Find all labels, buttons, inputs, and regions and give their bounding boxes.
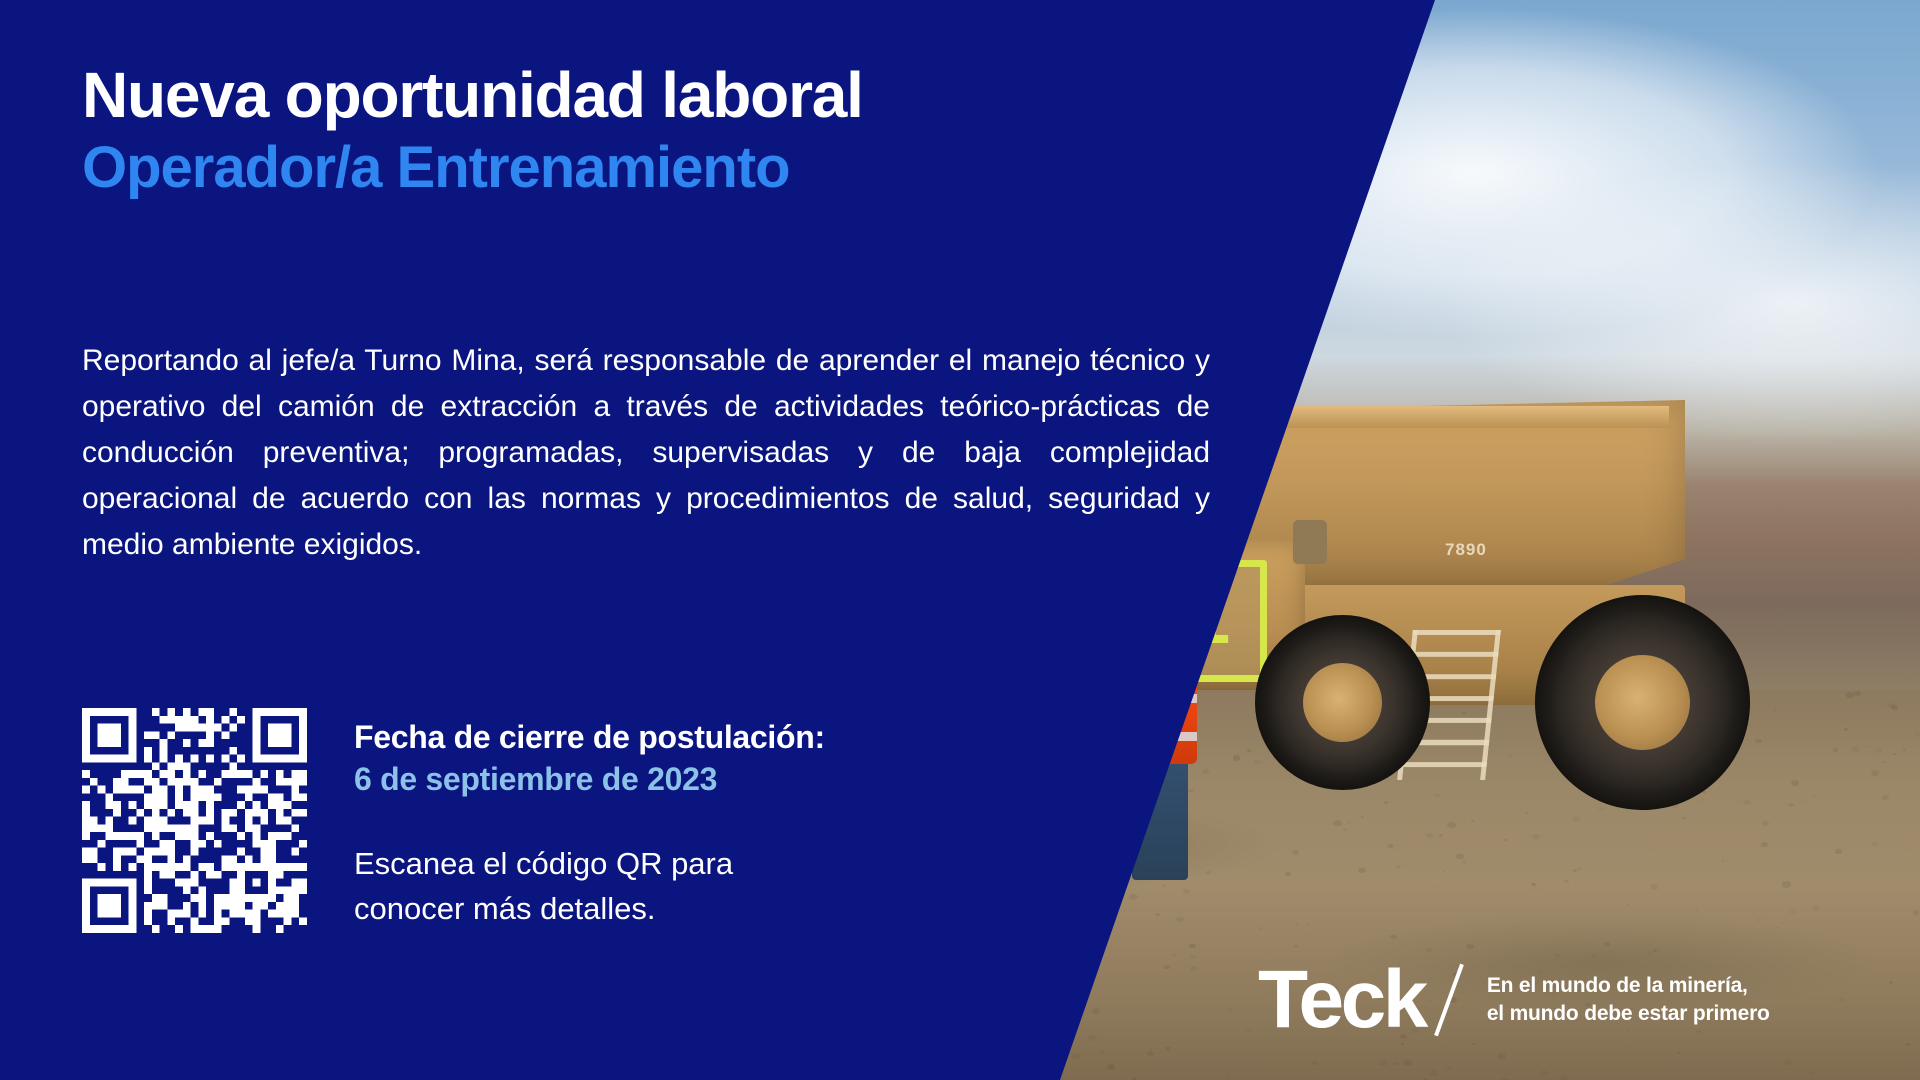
- truck-mirror: [1293, 520, 1327, 564]
- ground-speck: [1462, 860, 1467, 863]
- ground-speck: [1439, 834, 1443, 837]
- page-title: Nueva oportunidad laboral: [82, 62, 863, 129]
- ground-speck: [1650, 884, 1658, 890]
- ground-speck: [1227, 1076, 1230, 1078]
- ground-speck: [1430, 1070, 1438, 1075]
- ground-speck: [1573, 869, 1578, 872]
- brand-tagline-line1: En el mundo de la minería,: [1487, 972, 1770, 1000]
- ground-speck: [1789, 909, 1796, 914]
- ground-speck: [1761, 842, 1767, 846]
- ground-speck: [1875, 748, 1883, 753]
- ground-speck: [1446, 1066, 1452, 1070]
- ground-speck: [1456, 854, 1464, 860]
- ground-speck: [1334, 872, 1336, 874]
- ground-speck: [1626, 1046, 1628, 1048]
- ground-speck: [1390, 935, 1397, 940]
- truck-front-hub: [1303, 663, 1382, 742]
- ground-speck: [1653, 949, 1657, 952]
- ground-speck: [1564, 880, 1569, 884]
- ground-speck: [1604, 942, 1610, 946]
- ground-speck: [1466, 944, 1474, 950]
- ground-speck: [1889, 981, 1893, 983]
- ground-speck: [1835, 849, 1841, 854]
- ground-speck: [1532, 834, 1540, 839]
- ground-speck: [1292, 850, 1299, 855]
- ground-speck: [1903, 748, 1906, 750]
- job-role-subtitle: Operador/a Entrenamiento: [82, 138, 790, 199]
- truck-bed-rim: [1139, 406, 1669, 428]
- ground-speck: [1882, 795, 1889, 800]
- ground-speck: [1343, 828, 1348, 831]
- ground-speck: [1333, 820, 1341, 826]
- ground-speck: [1295, 924, 1298, 926]
- ground-speck: [1578, 867, 1582, 870]
- closing-date-value: 6 de septiembre de 2023: [354, 758, 1054, 800]
- ground-speck: [1395, 1063, 1398, 1065]
- ground-speck: [1425, 948, 1431, 952]
- teck-logo-lockup: Teck En el mundo de la minería, el mundo…: [1258, 955, 1858, 1045]
- ground-speck: [1782, 881, 1791, 887]
- ground-speck: [1404, 1060, 1412, 1066]
- ground-speck: [1503, 839, 1507, 841]
- ground-speck: [1307, 924, 1310, 926]
- ground-speck: [1206, 871, 1211, 874]
- ground-speck: [1396, 865, 1401, 869]
- brand-tagline: En el mundo de la minería, el mundo debe…: [1487, 972, 1770, 1029]
- ground-speck: [1871, 770, 1879, 776]
- ground-speck: [1347, 821, 1352, 824]
- ground-speck: [1228, 1008, 1233, 1011]
- ground-speck: [1497, 1053, 1506, 1059]
- ground-speck: [1285, 872, 1290, 876]
- ground-speck: [1433, 886, 1437, 888]
- ground-speck: [1722, 860, 1724, 862]
- ground-speck: [1358, 868, 1366, 874]
- ground-speck: [1443, 870, 1446, 872]
- truck-rear-wheel: [1535, 595, 1750, 810]
- ground-speck: [1294, 945, 1299, 948]
- closing-date-label: Fecha de cierre de postulación:: [354, 716, 1054, 758]
- qr-code-canvas[interactable]: [82, 708, 307, 933]
- ground-speck: [1312, 1061, 1317, 1065]
- ground-speck: [1893, 753, 1896, 755]
- scan-instructions-line2: conocer más detalles.: [354, 887, 994, 932]
- ground-speck: [1812, 906, 1819, 911]
- closing-date-block: Fecha de cierre de postulación: 6 de sep…: [354, 716, 1054, 800]
- ground-speck: [1758, 919, 1761, 921]
- ground-speck: [1762, 821, 1769, 826]
- ground-speck: [1678, 1052, 1681, 1054]
- ground-speck: [1784, 1060, 1791, 1065]
- job-posting-poster: 11 7890: [0, 0, 1920, 1080]
- scan-instructions-line1: Escanea el código QR para: [354, 842, 994, 887]
- ground-speck: [1531, 883, 1536, 886]
- poster-content: Nueva oportunidad laboral Operador/a Ent…: [82, 0, 1202, 1080]
- ground-speck: [1426, 833, 1433, 838]
- teck-wordmark: Teck: [1258, 959, 1425, 1041]
- scan-instructions: Escanea el código QR para conocer más de…: [354, 842, 994, 932]
- truck-rear-hub: [1595, 655, 1690, 750]
- truck-front-wheel: [1255, 615, 1430, 790]
- ground-speck: [1775, 927, 1777, 929]
- ground-speck: [1627, 904, 1629, 906]
- ground-speck: [1259, 927, 1264, 930]
- ground-speck: [1471, 820, 1474, 822]
- job-description: Reportando al jefe/a Turno Mina, será re…: [82, 338, 1210, 568]
- ground-speck: [1810, 1072, 1812, 1073]
- ground-speck: [1871, 842, 1878, 847]
- brand-tagline-line2: el mundo debe estar primero: [1487, 1000, 1770, 1028]
- truck-unit-tag: 7890: [1445, 540, 1487, 560]
- ground-speck: [1865, 746, 1868, 748]
- haul-truck: 11 7890: [1105, 400, 1865, 820]
- ground-speck: [1534, 887, 1537, 889]
- ground-speck: [1515, 925, 1517, 926]
- ground-speck: [1913, 910, 1919, 914]
- ground-speck: [1505, 1075, 1507, 1076]
- ground-speck: [1379, 1060, 1387, 1065]
- ground-speck: [1441, 1046, 1444, 1048]
- ground-speck: [1437, 826, 1439, 828]
- ground-speck: [1695, 909, 1698, 911]
- ground-speck: [1905, 1043, 1910, 1047]
- ground-speck: [1891, 705, 1898, 710]
- ground-speck: [1387, 844, 1394, 849]
- ground-speck: [1541, 1070, 1548, 1075]
- ground-speck: [1246, 1029, 1251, 1032]
- ground-speck: [1676, 1077, 1678, 1079]
- ground-speck: [1882, 761, 1885, 763]
- ground-speck: [1308, 934, 1310, 936]
- ground-speck: [1561, 1076, 1568, 1080]
- logo-slash-icon: [1427, 962, 1473, 1038]
- ground-speck: [1447, 822, 1455, 828]
- ground-speck: [1914, 732, 1920, 737]
- qr-code-icon[interactable]: [82, 708, 307, 933]
